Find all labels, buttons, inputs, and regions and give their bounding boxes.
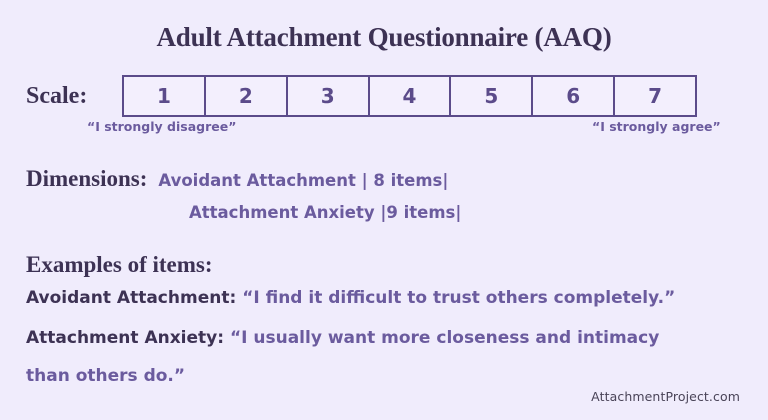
examples-heading: Examples of items:	[26, 252, 213, 278]
dimensions-label: Dimensions:	[26, 166, 147, 192]
example-label-anxiety: Attachment Anxiety:	[26, 328, 224, 348]
scale-anchor-high: “I strongly agree”	[592, 119, 721, 134]
scale-label: Scale:	[26, 83, 87, 110]
scale-point-6[interactable]: 6	[533, 77, 615, 115]
scale-point-5[interactable]: 5	[451, 77, 533, 115]
likert-scale-box: 1 2 3 4 5 6 7	[122, 75, 697, 117]
scale-point-1[interactable]: 1	[124, 77, 206, 115]
example-item-avoidant: Avoidant Attachment: “I find it difficul…	[26, 288, 675, 308]
scale-point-4[interactable]: 4	[370, 77, 452, 115]
dimension-item-avoidant: Avoidant Attachment | 8 items|	[158, 171, 448, 190]
infographic-slide: Adult Attachment Questionnaire (AAQ) Sca…	[0, 0, 768, 420]
example-quote-anxiety-line2: than others do.”	[26, 366, 185, 386]
scale-anchor-low: “I strongly disagree”	[87, 119, 236, 134]
example-quote-anxiety-line1: “I usually want more closeness and intim…	[230, 328, 659, 348]
example-quote-avoidant: “I find it difficult to trust others com…	[242, 288, 675, 308]
dimensions-first-row: Dimensions: Avoidant Attachment | 8 item…	[26, 166, 742, 192]
dimensions-second-row: Attachment Anxiety |9 items|	[26, 203, 742, 223]
page-title: Adult Attachment Questionnaire (AAQ)	[0, 22, 768, 53]
scale-point-3[interactable]: 3	[288, 77, 370, 115]
example-item-anxiety: Attachment Anxiety: “I usually want more…	[26, 328, 659, 348]
scale-point-7[interactable]: 7	[615, 77, 695, 115]
scale-section: Scale: 1 2 3 4 5 6 7 “I strongly disagre…	[0, 74, 768, 118]
dimensions-section: Dimensions: Avoidant Attachment | 8 item…	[26, 166, 742, 223]
scale-point-2[interactable]: 2	[206, 77, 288, 115]
example-quote-anxiety-continued: than others do.”	[26, 366, 185, 386]
dimension-item-anxiety: Attachment Anxiety |9 items|	[189, 203, 461, 222]
example-label-avoidant: Avoidant Attachment:	[26, 288, 236, 308]
attribution-source: AttachmentProject.com	[591, 389, 740, 404]
